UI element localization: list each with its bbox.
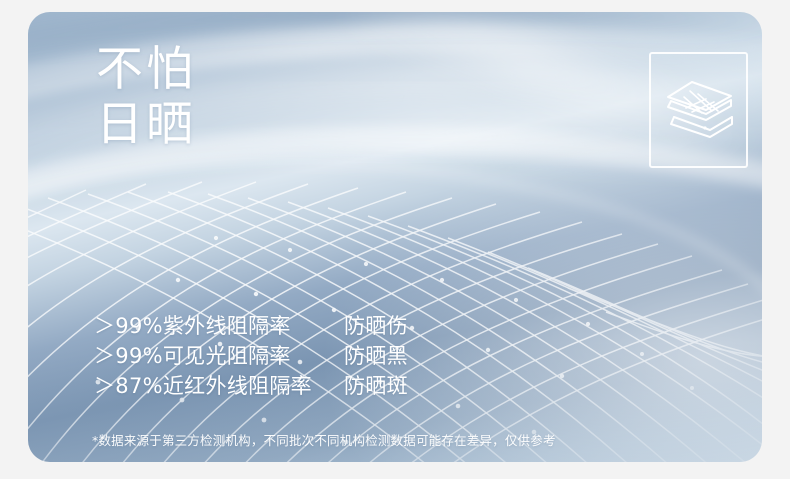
screenshot-root: 不怕 日晒 [0, 0, 790, 479]
claim-row: ＞99%紫外线阻隔率 防晒伤 [94, 310, 408, 340]
claim-row: ＞87%近红外线阻隔率 防晒斑 [94, 370, 408, 400]
claim-metric: ＞87%近红外线阻隔率 [94, 370, 344, 400]
title-line-2: 日晒 [96, 97, 196, 152]
fabric-layers-icon [662, 77, 736, 143]
claim-benefit: 防晒伤 [344, 310, 408, 340]
page-title: 不怕 日晒 [96, 42, 196, 153]
disclaimer-footnote: *数据来源于第三方检测机构，不同批次不同机构检测数据可能存在差异，仅供参考 [92, 430, 556, 449]
claim-row: ＞99%可见光阻隔率 防晒黑 [94, 340, 408, 370]
claim-metric: ＞99%可见光阻隔率 [94, 340, 344, 370]
claim-benefit: 防晒黑 [344, 340, 408, 370]
icon-frame [649, 52, 748, 168]
claim-metric: ＞99%紫外线阻隔率 [94, 310, 344, 340]
sun-protection-banner-card: 不怕 日晒 [28, 12, 762, 462]
title-line-1: 不怕 [96, 42, 196, 97]
claims-list: ＞99%紫外线阻隔率 防晒伤 ＞99%可见光阻隔率 防晒黑 ＞87%近红外线阻隔… [94, 310, 408, 400]
claim-benefit: 防晒斑 [344, 370, 408, 400]
